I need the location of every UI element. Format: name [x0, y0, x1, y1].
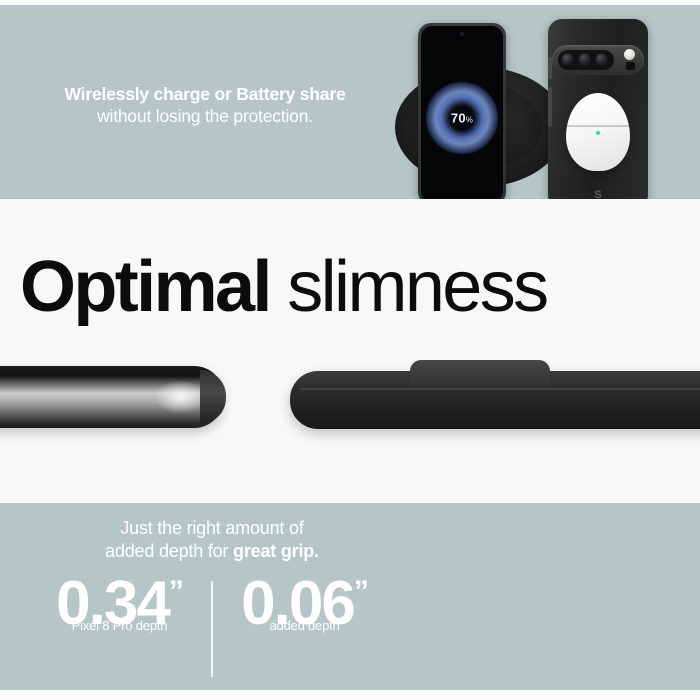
front-camera-icon	[460, 32, 464, 36]
top-headline: Wirelessly charge or Battery share witho…	[0, 83, 410, 128]
camera-lens-icon	[578, 53, 592, 67]
camera-bar	[552, 45, 644, 75]
phone-front-on-charger: 70%	[418, 23, 506, 199]
stat-unit: ”	[354, 575, 368, 608]
panel-wireless-charging: Wirelessly charge or Battery share witho…	[0, 5, 700, 199]
panel-added-depth: Just the right amount of added depth for…	[0, 503, 700, 690]
bottom-headline-line1: Just the right amount of	[22, 517, 402, 540]
bottom-headline-line2-bold: great grip.	[233, 541, 319, 561]
product-marketing-image: Wirelessly charge or Battery share witho…	[0, 0, 700, 700]
stat-added-depth: 0.06” added depth	[217, 575, 392, 633]
percent-symbol: %	[466, 115, 473, 124]
phone-screen: 70%	[421, 26, 503, 199]
battery-percent-label: 70%	[451, 110, 473, 125]
power-button-icon	[548, 87, 552, 127]
bottom-headline-line2: added depth for great grip.	[22, 540, 402, 563]
panel-optimal-slimness: Optimal slimness S	[0, 199, 700, 503]
slimness-headline: Optimal slimness	[20, 251, 547, 323]
brand-logo: S	[594, 189, 601, 199]
flash-icon	[624, 49, 635, 60]
earbuds-case-seam	[567, 125, 628, 127]
sensor-icon	[626, 62, 635, 70]
lens-housing	[558, 50, 614, 70]
pixel-phone-back: S	[548, 19, 648, 199]
stat-pixel-depth: 0.34” Pixel 8 Pro depth	[32, 575, 207, 633]
battery-percent-value: 70	[451, 110, 466, 125]
bare-phone-edge	[0, 366, 224, 428]
camera-lens-icon	[595, 53, 609, 67]
top-headline-line1: Wirelessly charge or Battery share	[0, 83, 410, 105]
stat-divider	[211, 581, 213, 677]
charging-led-icon	[596, 131, 600, 135]
stat-unit: ”	[169, 575, 183, 608]
top-headline-line2: without losing the protection.	[0, 105, 410, 127]
camera-lens-icon	[561, 53, 575, 67]
depth-stats: 0.34” Pixel 8 Pro depth 0.06” added dept…	[22, 575, 402, 677]
slimness-headline-light: slimness	[270, 247, 547, 327]
slimness-headline-bold: Optimal	[20, 247, 270, 327]
case-groove	[300, 388, 700, 390]
earbuds-case-icon	[566, 93, 630, 171]
phone-edge-cap	[200, 370, 226, 424]
bottom-headline: Just the right amount of added depth for…	[22, 517, 402, 564]
cased-phone-edge: S	[290, 371, 700, 429]
button-cover-bump	[410, 360, 550, 386]
bottom-headline-line2-prefix: added depth for	[105, 541, 233, 561]
